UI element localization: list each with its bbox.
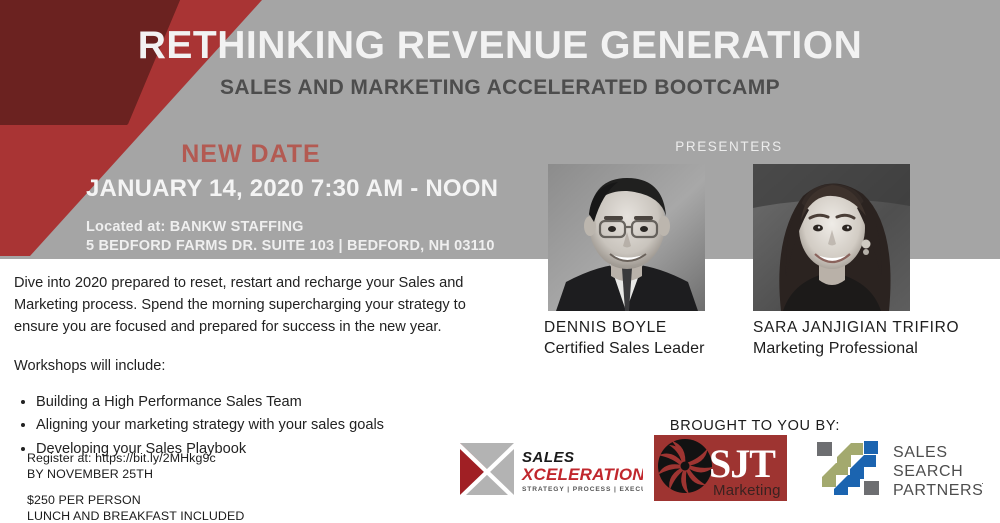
new-date-badge: NEW DATE [86,140,416,169]
sjt-initials: SJT [709,441,776,486]
workshops-intro: Workshops will include: [14,355,494,377]
register-link[interactable]: Register at: https://bit.ly/2MHkg9c [27,450,244,466]
presenter-photo-sara-janjigian-trifiro [753,164,910,311]
page-title: RETHINKING REVENUE GENERATION [0,26,1000,65]
registration-link-group: Register at: https://bit.ly/2MHkg9c BY N… [27,450,244,483]
ssp-trademark: · [981,478,984,488]
presenters-label: PRESENTERS [548,139,910,154]
page-subtitle: SALES AND MARKETING ACCELERATED BOOTCAMP [0,77,1000,98]
presenter-name-2: SARA JANJIGIAN TRIFIRO [753,319,959,337]
event-datetime: JANUARY 14, 2020 7:30 AM - NOON [86,175,516,203]
venue-address: 5 BEDFORD FARMS DR. SUITE 103 | BEDFORD,… [86,237,516,256]
register-inclusions: LUNCH AND BREAKFAST INCLUDED [27,508,244,523]
registration-block: Register at: https://bit.ly/2MHkg9c BY N… [27,450,244,523]
event-venue: Located at: BANKW STAFFING 5 BEDFORD FAR… [86,218,516,256]
logo-sales-search-partners: SALES SEARCH PARTNERS · [815,437,1000,499]
registration-price-group: $250 PER PERSON LUNCH AND BREAKFAST INCL… [27,492,244,523]
sales-xceleration-tagline: STRATEGY | PROCESS | EXECUTION [522,486,643,493]
presenter-name-1: DENNIS BOYLE [544,319,667,337]
logo-sjt-marketing: SJT Marketing [654,433,787,503]
register-deadline: BY NOVEMBER 25TH [27,466,244,482]
sales-xceleration-word-2: XCELERATION [521,465,643,484]
sponsors-heading: BROUGHT TO YOU BY: [640,418,870,434]
register-price: $250 PER PERSON [27,492,244,508]
logo-sales-xceleration: SALES XCELERATION STRATEGY | PROCESS | E… [458,440,643,498]
list-item: Aligning your marketing strategy with yo… [36,414,494,438]
event-date-block: NEW DATE JANUARY 14, 2020 7:30 AM - NOON… [86,140,516,256]
ssp-line-1: SALES [893,444,948,461]
ssp-line-2: SEARCH [893,463,963,480]
list-item: Building a High Performance Sales Team [36,391,494,415]
title-block: RETHINKING REVENUE GENERATION SALES AND … [0,26,1000,98]
sjt-marketing-word: Marketing [713,482,781,499]
description-block: Dive into 2020 prepared to reset, restar… [14,272,494,462]
sponsor-logos: SALES XCELERATION STRATEGY | PROCESS | E… [455,437,1000,507]
sales-search-partners-mark-and-type: SALES SEARCH PARTNERS · [815,437,1000,499]
dark-red-polygon-seam [0,124,128,125]
presenter-photo-dennis-boyle [548,164,705,311]
sales-xceleration-word-1: SALES [522,449,575,466]
sales-xceleration-mark-and-type: SALES XCELERATION STRATEGY | PROCESS | E… [458,440,643,498]
ssp-line-3: PARTNERS [893,482,983,499]
sales-xceleration-x-mark [460,443,514,495]
headshot-sara-janjigian-trifiro-image [753,164,910,311]
sjt-marketing-mark-and-type: SJT Marketing [654,433,787,503]
venue-name: Located at: BANKW STAFFING [86,218,516,237]
presenter-role-1: Certified Sales Leader [544,340,705,358]
headshot-dennis-boyle-image [548,164,705,311]
presenter-role-2: Marketing Professional [753,340,918,358]
ssp-stairstep-icon [817,441,879,495]
description-paragraph: Dive into 2020 prepared to reset, restar… [14,272,494,339]
event-flyer: RETHINKING REVENUE GENERATION SALES AND … [0,0,1000,523]
